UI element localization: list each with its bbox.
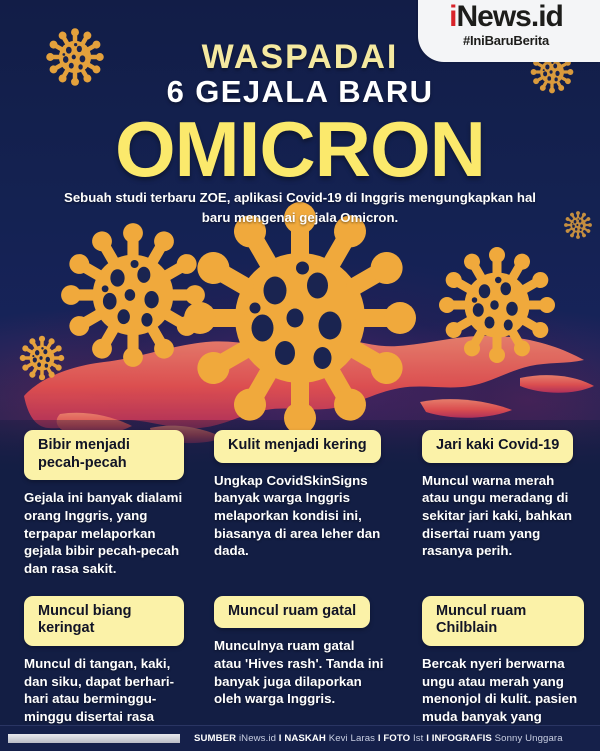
footer-credits-bar: SUMBER iNews.id I NASKAH Kevi Laras I FO… <box>0 725 600 751</box>
footer-sep: I <box>279 733 282 744</box>
footer-naskah-label: NASKAH <box>284 733 326 744</box>
headline-block: WASPADAI 6 GEJALA BARU OMICRON <box>0 40 600 187</box>
symptom-card: Muncul biang keringat Muncul di tangan, … <box>0 596 200 744</box>
footer-accent-bar <box>8 734 180 743</box>
inews-logo-text: iNews.id <box>418 2 594 32</box>
symptom-card: Jari kaki Covid-19 Muncul warna merah at… <box>400 430 600 578</box>
headline-subtitle: Sebuah studi terbaru ZOE, aplikasi Covid… <box>60 188 540 228</box>
footer-infografis-label: INFOGRAFIS <box>432 733 492 744</box>
footer-sumber-label: SUMBER <box>194 733 236 744</box>
symptom-body-text: Gejala ini banyak dialami orang Inggris,… <box>24 489 184 577</box>
card-row-1: Bibir menjadi pecah-pecah Gejala ini ban… <box>0 430 600 578</box>
logo-rest-text: News.id <box>456 0 562 33</box>
symptom-card: Kulit menjadi kering Ungkap CovidSkinSig… <box>200 430 400 578</box>
symptom-cards: Bibir menjadi pecah-pecah Gejala ini ban… <box>0 430 600 743</box>
symptom-title-pill: Kulit menjadi kering <box>214 430 381 463</box>
footer-infografis-value: Sonny Unggara <box>495 733 563 744</box>
footer-sep: I <box>378 733 381 744</box>
symptom-title-pill: Muncul ruam Chilblain <box>422 596 584 646</box>
symptom-card: Bibir menjadi pecah-pecah Gejala ini ban… <box>0 430 200 578</box>
symptom-card: Muncul ruam gatal Munculnya ruam gatal a… <box>200 596 400 744</box>
symptom-card: Muncul ruam Chilblain Bercak nyeri berwa… <box>400 596 600 744</box>
footer-sep: I <box>426 733 429 744</box>
symptom-body-text: Ungkap CovidSkinSigns banyak warga Inggr… <box>214 472 384 560</box>
footer-sumber-value: iNews.id <box>239 733 276 744</box>
footer-foto-value: Ist <box>413 733 423 744</box>
symptom-title-pill: Muncul biang keringat <box>24 596 184 646</box>
headline-line-3: OMICRON <box>0 112 600 187</box>
symptom-body-text: Munculnya ruam gatal atau 'Hives rash'. … <box>214 637 384 708</box>
symptom-title-pill: Muncul ruam gatal <box>214 596 370 629</box>
symptom-title-pill: Jari kaki Covid-19 <box>422 430 573 463</box>
symptom-title-pill: Bibir menjadi pecah-pecah <box>24 430 184 480</box>
symptom-body-text: Muncul warna merah atau ungu meradang di… <box>422 472 584 560</box>
headline-line-1: WASPADAI <box>0 40 600 75</box>
footer-naskah-value: Kevi Laras <box>329 733 375 744</box>
infographic-page: iNews.id #IniBaruBerita WASPADAI 6 GEJAL… <box>0 0 600 751</box>
footer-foto-label: FOTO <box>383 733 410 744</box>
footer-credits-text: SUMBER iNews.id I NASKAH Kevi Laras I FO… <box>194 733 563 744</box>
card-row-2: Muncul biang keringat Muncul di tangan, … <box>0 596 600 744</box>
